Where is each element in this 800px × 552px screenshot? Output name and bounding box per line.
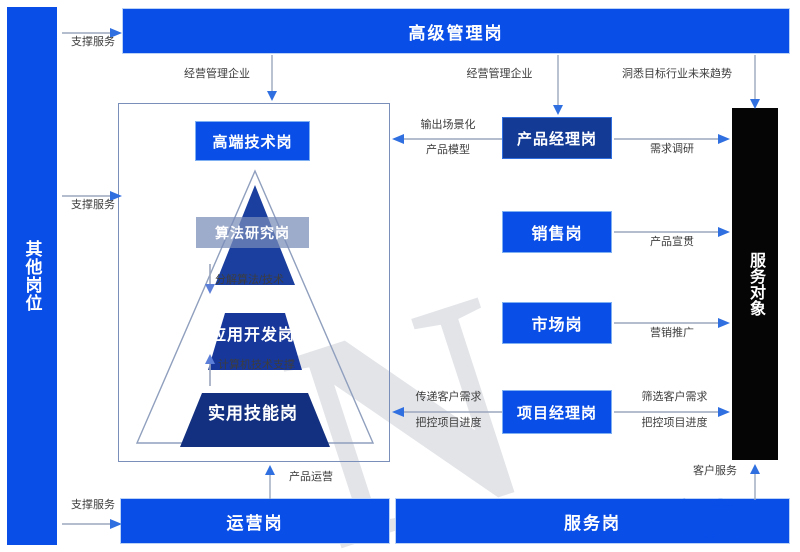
role-box-project-manager: 项目经理岗 xyxy=(502,390,612,434)
arrow-product-promotion-label: 产品宣贯 xyxy=(632,236,712,250)
pyramid-tier-3-label: 实用技能岗 xyxy=(208,399,298,424)
label-text: 客户服务 xyxy=(693,465,737,477)
label-text: 需求调研 xyxy=(650,143,694,155)
bottom-bar-operations: 运营岗 xyxy=(120,498,390,544)
arrow-manage-enterprise-left-label: 经营管理企业 xyxy=(172,68,262,82)
label-text: 产品宣贯 xyxy=(650,236,694,248)
diagram-canvas: N 其他岗位 高级管理岗 服务对象 高端技术岗 算法研究岗 应用开发岗 实用技能… xyxy=(0,0,800,552)
pyramid-tier-1-label-band: 算法研究岗 xyxy=(196,217,309,248)
arrow-decompose-algorithm-label: 分解算法/技术 xyxy=(215,274,284,288)
arrow-output-scenario-model-label-line2: 产品模型 xyxy=(398,143,498,159)
arrow-marketing-promotion-label: 营销推广 xyxy=(632,327,712,341)
pyramid-tier-3-label-wrap: 实用技能岗 xyxy=(178,396,328,426)
label-text: 产品运营 xyxy=(289,471,333,483)
top-banner-senior-management: 高级管理岗 xyxy=(122,8,790,54)
pyramid-tier-1-label: 算法研究岗 xyxy=(215,223,290,243)
label-text: 输出场景化 xyxy=(421,119,476,131)
arrow-manage-enterprise-left xyxy=(265,55,279,103)
role-box-product-manager-label: 产品经理岗 xyxy=(517,128,597,149)
label-text: 分解算法/技术 xyxy=(215,274,284,286)
bottom-bar-service: 服务岗 xyxy=(395,498,790,544)
arrow-pass-customer-need-label-line1: 传递客户需求 xyxy=(396,390,501,406)
label-text: 经营管理企业 xyxy=(184,68,250,80)
pyramid-top-box-label: 高端技术岗 xyxy=(212,131,292,152)
bottom-bar-operations-label: 运营岗 xyxy=(227,509,284,534)
pyramid-top-box-high-end-tech: 高端技术岗 xyxy=(195,121,310,161)
arrow-customer-service xyxy=(748,462,762,500)
label-text: 筛选客户需求 xyxy=(642,391,708,403)
label-text: 支撑服务 xyxy=(71,499,115,511)
arrow-computer-tech-support-label: 计算机技术支撑 xyxy=(218,359,295,373)
arrow-manage-enterprise-right-label: 经营管理企业 xyxy=(452,68,547,82)
role-box-market: 市场岗 xyxy=(502,302,612,344)
label-text: 把控项目进度 xyxy=(416,417,482,429)
label-text: 营销推广 xyxy=(650,327,694,339)
label-text: 经营管理企业 xyxy=(467,68,533,80)
label-text: 支撑服务 xyxy=(71,199,115,211)
arrow-output-scenario-model-label-line1: 输出场景化 xyxy=(398,118,498,134)
label-text: 洞悉目标行业未来趋势 xyxy=(622,68,732,80)
arrow-support-service-mid-label: 支撑服务 xyxy=(60,199,126,213)
role-box-sales-label: 销售岗 xyxy=(531,220,582,244)
arrow-product-operations xyxy=(263,463,277,499)
arrow-filter-customer-need-label-line2: 把控项目进度 xyxy=(622,416,727,432)
role-box-project-manager-label: 项目经理岗 xyxy=(517,402,597,423)
arrow-industry-insight-label: 洞悉目标行业未来趋势 xyxy=(612,68,742,82)
top-banner-label: 高级管理岗 xyxy=(409,19,504,44)
role-box-sales: 销售岗 xyxy=(502,211,612,253)
arrow-computer-tech-support xyxy=(203,352,217,386)
arrow-support-service-top-label: 支撑服务 xyxy=(60,36,126,50)
right-column-label: 服务对象 xyxy=(746,252,764,316)
label-text: 把控项目进度 xyxy=(642,417,708,429)
role-box-product-manager: 产品经理岗 xyxy=(502,117,612,159)
arrow-filter-customer-need-label-line1: 筛选客户需求 xyxy=(622,390,727,406)
pyramid-tier-2-label-wrap: 应用开发岗 xyxy=(185,318,320,348)
label-text: 计算机技术支撑 xyxy=(218,359,295,371)
arrow-demand-research-label: 需求调研 xyxy=(632,143,712,157)
left-column-label: 其他岗位 xyxy=(22,240,41,312)
arrow-pass-customer-need-label-line2: 把控项目进度 xyxy=(396,416,501,432)
left-column-other-positions: 其他岗位 xyxy=(7,7,57,545)
label-text: 支撑服务 xyxy=(71,36,115,48)
arrow-customer-service-label: 客户服务 xyxy=(684,465,746,479)
pyramid-tier-2-label: 应用开发岗 xyxy=(210,321,295,345)
bottom-bar-service-label: 服务岗 xyxy=(564,509,621,534)
role-box-market-label: 市场岗 xyxy=(531,311,582,335)
label-text: 产品模型 xyxy=(426,144,470,156)
arrow-support-service-bottom-label: 支撑服务 xyxy=(60,499,126,513)
arrow-support-service-bottom xyxy=(62,518,124,530)
label-text: 传递客户需求 xyxy=(416,391,482,403)
right-column-service-target: 服务对象 xyxy=(732,108,778,460)
arrow-manage-enterprise-right xyxy=(551,55,565,117)
arrow-product-operations-label: 产品运营 xyxy=(276,471,346,485)
arrow-industry-insight xyxy=(748,55,762,111)
